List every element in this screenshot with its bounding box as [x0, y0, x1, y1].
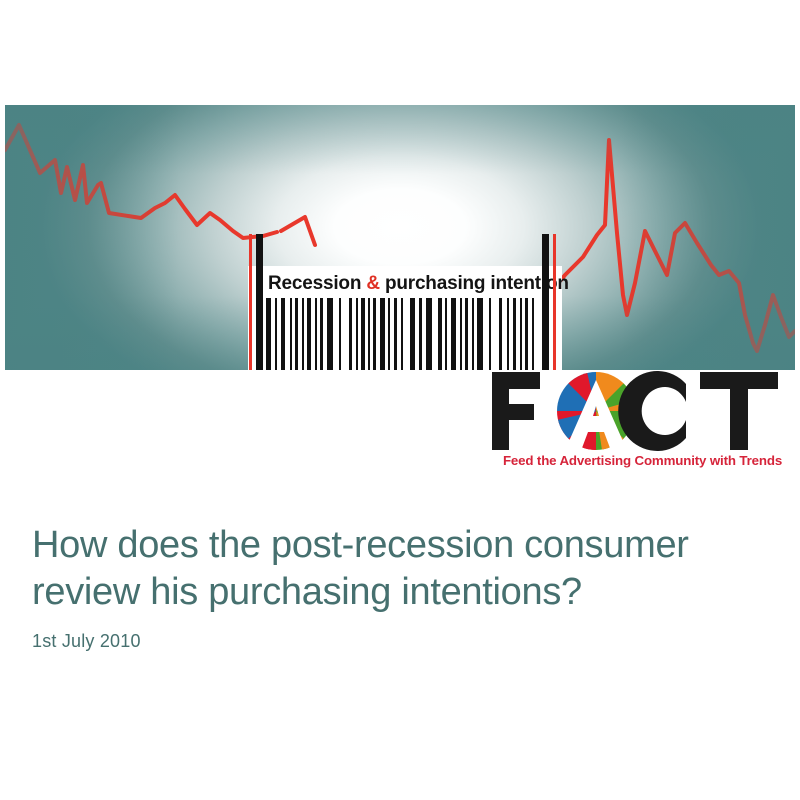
trend-line-right [553, 140, 795, 351]
barcode-caption-ampersand: & [366, 273, 380, 294]
page-title: How does the post-recession consumer rev… [32, 522, 762, 616]
fact-wordmark [490, 370, 795, 452]
trend-line-left [5, 125, 277, 238]
fact-letter-t [700, 372, 778, 450]
slide-date: 1st July 2010 [32, 630, 762, 652]
trend-line-barcode-join [281, 217, 315, 245]
recession-banner-image: Recession & purchasing intention [5, 105, 795, 370]
barcode-graphic: Recession & purchasing intention [248, 266, 562, 370]
fact-letter-f [492, 372, 540, 450]
fact-logo: Feed the Advertising Community with Tren… [490, 370, 795, 480]
barcode-caption-suffix: purchasing intention [380, 273, 569, 294]
barcode-caption-prefix: Recession [268, 273, 366, 294]
title-block: How does the post-recession consumer rev… [32, 522, 762, 652]
presentation-slide: Recession & purchasing intention [0, 0, 800, 800]
barcode-bars [248, 298, 562, 370]
barcode-caption: Recession & purchasing intention [268, 270, 542, 298]
fact-letter-c [618, 371, 686, 451]
fact-tagline: Feed the Advertising Community with Tren… [490, 453, 795, 468]
